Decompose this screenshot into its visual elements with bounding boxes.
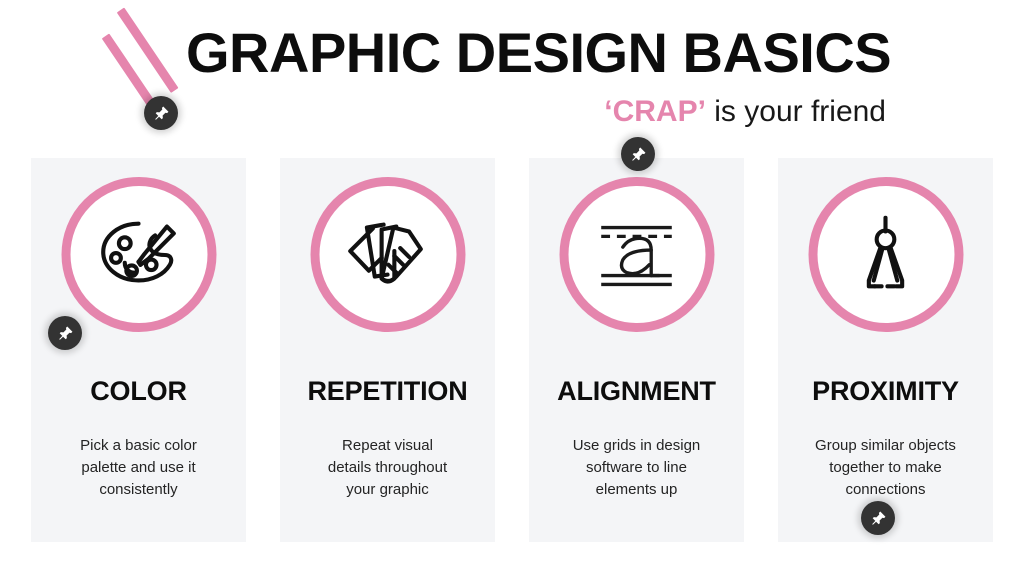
typography-baseline-a-icon: [588, 206, 686, 304]
desc-line: Repeat visual: [280, 435, 495, 457]
page-subtitle: ‘CRAP’ is your friend: [186, 92, 886, 132]
card-title: ALIGNMENT: [529, 376, 744, 407]
desc-line: Pick a basic color: [31, 435, 246, 457]
pin-icon[interactable]: [144, 96, 178, 130]
desc-line: Use grids in design: [529, 435, 744, 457]
card-color[interactable]: COLOR Pick a basic color palette and use…: [31, 158, 246, 542]
desc-line: your graphic: [280, 479, 495, 501]
pin-icon[interactable]: [621, 137, 655, 171]
desc-line: details throughout: [280, 457, 495, 479]
desc-line: software to line: [529, 457, 744, 479]
desc-line: together to make: [778, 457, 993, 479]
card-title: PROXIMITY: [778, 376, 993, 407]
subtitle-accent-word: ‘CRAP’: [604, 95, 706, 128]
card-proximity[interactable]: PROXIMITY Group similar objects together…: [778, 158, 993, 542]
color-swatch-fan-icon: [339, 206, 437, 304]
card-description: Repeat visual details throughout your gr…: [280, 435, 495, 501]
cards-row: COLOR Pick a basic color palette and use…: [31, 158, 993, 542]
subtitle-rest: is your friend: [706, 95, 886, 128]
icon-ring: [808, 177, 963, 332]
diagonal-double-stroke-icon: [96, 4, 192, 124]
pin-icon[interactable]: [861, 501, 895, 535]
icon-ring: [310, 177, 465, 332]
card-description: Group similar objects together to make c…: [778, 435, 993, 501]
icon-ring: [559, 177, 714, 332]
pin-icon[interactable]: [48, 316, 82, 350]
desc-line: elements up: [529, 479, 744, 501]
deco-bar-upper: [117, 7, 179, 92]
card-title: REPETITION: [280, 376, 495, 407]
desc-line: consistently: [31, 479, 246, 501]
desc-line: connections: [778, 479, 993, 501]
page-title: GRAPHIC DESIGN BASICS: [186, 20, 891, 86]
card-description: Pick a basic color palette and use it co…: [31, 435, 246, 501]
card-repetition[interactable]: REPETITION Repeat visual details through…: [280, 158, 495, 542]
desc-line: Group similar objects: [778, 435, 993, 457]
card-title: COLOR: [31, 376, 246, 407]
desc-line: palette and use it: [31, 457, 246, 479]
card-alignment[interactable]: ALIGNMENT Use grids in design software t…: [529, 158, 744, 542]
icon-ring: [61, 177, 216, 332]
card-description: Use grids in design software to line ele…: [529, 435, 744, 501]
paint-palette-icon: [90, 206, 188, 304]
drafting-compass-icon: [837, 206, 935, 304]
